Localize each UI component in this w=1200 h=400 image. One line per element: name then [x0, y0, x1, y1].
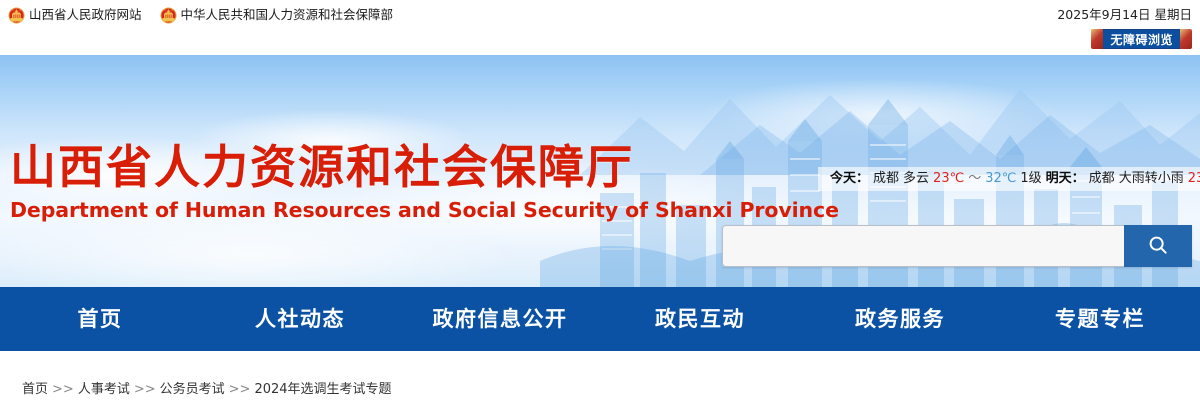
nav-item-home[interactable]: 首页: [0, 287, 200, 351]
ribbon-right-decoration: [1180, 29, 1192, 49]
weather-tomorrow-condition: 大雨转小雨: [1119, 167, 1184, 191]
weather-tomorrow-label: 明天：: [1046, 171, 1085, 186]
breadcrumb-separator: >>: [52, 382, 74, 397]
weather-today-separator: ～: [968, 167, 981, 191]
breadcrumb: 首页>>人事考试>>公务员考试>>2024年选调生考试专题: [22, 381, 392, 399]
gov-link-shanxi-government[interactable]: 山西省人民政府网站: [8, 6, 142, 24]
breadcrumb-item-home[interactable]: 首页: [22, 382, 48, 397]
weather-today-condition: 多云: [903, 167, 929, 191]
breadcrumb-item-civil-servant-exam[interactable]: 公务员考试: [160, 382, 225, 397]
weather-today-label: 今天：: [830, 171, 869, 186]
weather-tomorrow-low: 23℃: [1188, 167, 1200, 191]
top-utility-bar: 山西省人民政府网站 中华人民共和国人力: [0, 0, 1200, 55]
search-button[interactable]: [1124, 225, 1192, 267]
national-emblem-icon: [8, 7, 25, 24]
breadcrumb-item-current: 2024年选调生考试专题: [254, 382, 391, 397]
nav-item-special[interactable]: 专题专栏: [1000, 287, 1200, 351]
ribbon-left-decoration: [1091, 29, 1103, 49]
weather-strip: 今天： 成都 多云 23℃ ～ 32℃ 1级 明天： 成都 大雨转小雨 23℃ …: [818, 167, 1200, 191]
nav-item-news[interactable]: 人社动态: [200, 287, 400, 351]
weather-today-city: 成都: [873, 167, 899, 191]
search-input[interactable]: [722, 225, 1124, 267]
nav-item-interaction[interactable]: 政民互动: [600, 287, 800, 351]
gov-link-label: 山西省人民政府网站: [29, 6, 142, 24]
site-title-english: Department of Human Resources and Social…: [10, 197, 839, 223]
breadcrumb-separator: >>: [134, 382, 156, 397]
current-date: 2025年9月14日 星期日: [1057, 6, 1192, 24]
nav-item-disclosure[interactable]: 政府信息公开: [400, 287, 600, 351]
national-emblem-icon: [160, 7, 177, 24]
breadcrumb-bar: 首页>>人事考试>>公务员考试>>2024年选调生考试专题: [0, 351, 1200, 400]
accessibility-browsing-button[interactable]: 无障碍浏览: [1091, 29, 1192, 49]
weather-tomorrow-city: 成都: [1089, 167, 1115, 191]
weather-today-low: 23℃: [933, 167, 964, 191]
nav-item-services[interactable]: 政务服务: [800, 287, 1000, 351]
breadcrumb-separator: >>: [229, 382, 251, 397]
accessibility-label: 无障碍浏览: [1103, 29, 1180, 49]
site-search: [722, 225, 1192, 267]
site-banner: 山西省人力资源和社会保障厅 Department of Human Resour…: [0, 55, 1200, 287]
breadcrumb-item-personnel-exam[interactable]: 人事考试: [78, 382, 130, 397]
site-title-chinese: 山西省人力资源和社会保障厅: [10, 139, 839, 195]
main-navigation: 首页 人社动态 政府信息公开 政民互动 政务服务 专题专栏: [0, 287, 1200, 351]
weather-today-wind: 1级: [1020, 167, 1041, 191]
gov-links-group: 山西省人民政府网站 中华人民共和国人力: [8, 6, 393, 24]
search-icon: [1147, 234, 1169, 259]
weather-today-high: 32℃: [985, 167, 1016, 191]
site-title-block: 山西省人力资源和社会保障厅 Department of Human Resour…: [10, 139, 839, 223]
gov-link-mohrss[interactable]: 中华人民共和国人力资源和社会保障部: [160, 6, 394, 24]
gov-link-label: 中华人民共和国人力资源和社会保障部: [181, 6, 394, 24]
